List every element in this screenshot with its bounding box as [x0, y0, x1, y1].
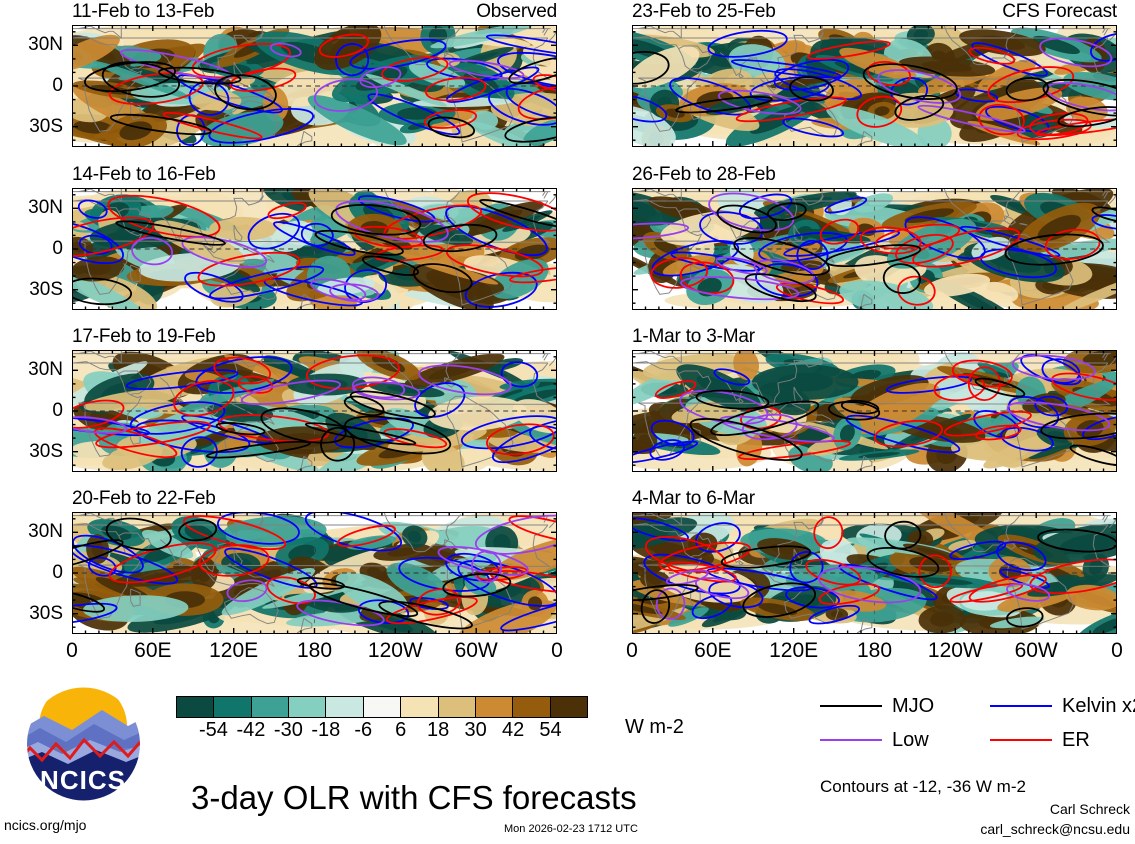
- panel-title-fcst-2: 26-Feb to 28-Feb: [632, 165, 776, 184]
- map-panel-obs-4: 20-Feb to 22-Feb30N030S: [72, 512, 557, 634]
- y-tick-obs-2-0: 0: [52, 239, 63, 258]
- colorbar-tick-7: 30: [465, 720, 487, 740]
- colorbar-tick-1: -42: [236, 720, 265, 740]
- author-name: Carl Schreck: [930, 802, 1130, 816]
- ncics-logo-graphic: NCICS: [16, 686, 151, 802]
- map-panel-obs-2: 14-Feb to 16-Feb30N030S: [72, 188, 557, 310]
- y-tick-obs-1-0: 0: [52, 76, 63, 95]
- x-tick-right-5: 60W: [1015, 640, 1058, 661]
- colorbar-cell-1: [214, 697, 251, 717]
- generation-timestamp: Mon 2026-02-23 1712 UTC: [504, 824, 638, 835]
- ncics-logo: NCICS: [16, 686, 151, 802]
- contour-legend: MJO Kelvin x2 Low ER: [820, 696, 1120, 756]
- legend-swatch-kelvin: [990, 705, 1052, 707]
- colorbar-tick-4: -6: [354, 720, 372, 740]
- y-tick-obs-3-30N: 30N: [28, 360, 63, 379]
- panel-title-obs-3: 17-Feb to 19-Feb: [72, 327, 216, 346]
- colorbar-cell-8: [476, 697, 513, 717]
- map-area-fcst-2: [632, 188, 1117, 310]
- x-tick-left-2: 120E: [209, 640, 258, 661]
- legend-label-er: ER: [1062, 730, 1090, 750]
- colorbar-cell-7: [439, 697, 476, 717]
- map-area-fcst-4: [632, 512, 1117, 634]
- column-header-right: CFS Forecast: [1002, 2, 1117, 21]
- site-url[interactable]: ncics.org/mjo: [4, 818, 86, 832]
- y-tick-obs-4-30N: 30N: [28, 522, 63, 541]
- legend-item-er: ER: [990, 730, 1090, 750]
- map-area-obs-4: [72, 512, 557, 634]
- y-tick-obs-4-0: 0: [52, 563, 63, 582]
- map-panel-obs-3: 17-Feb to 19-Feb30N030S: [72, 350, 557, 472]
- map-panel-fcst-4: 4-Mar to 6-Mar: [632, 512, 1117, 634]
- y-tick-obs-2-30S: 30S: [29, 280, 63, 299]
- map-panel-obs-1: 11-Feb to 13-FebObserved30N030S: [72, 25, 557, 147]
- colorbar-cell-4: [326, 697, 363, 717]
- svg-text:NCICS: NCICS: [40, 765, 126, 795]
- legend-swatch-low: [820, 739, 882, 741]
- x-tick-left-1: 60E: [134, 640, 171, 661]
- main-title: 3-day OLR with CFS forecasts: [191, 781, 637, 814]
- colorbar-cell-10: [551, 697, 587, 717]
- colorbar: -54-42-30-18-6618304254: [176, 696, 588, 746]
- colorbar-tick-6: 18: [427, 720, 449, 740]
- map-panel-fcst-2: 26-Feb to 28-Feb: [632, 188, 1117, 310]
- y-tick-obs-3-0: 0: [52, 401, 63, 420]
- colorbar-cell-3: [289, 697, 326, 717]
- panel-title-fcst-3: 1-Mar to 3-Mar: [632, 327, 755, 346]
- map-area-obs-1: [72, 25, 557, 147]
- panel-title-obs-4: 20-Feb to 22-Feb: [72, 489, 216, 508]
- panel-title-fcst-4: 4-Mar to 6-Mar: [632, 489, 755, 508]
- legend-item-kelvin: Kelvin x2: [990, 696, 1135, 716]
- legend-swatch-er: [990, 739, 1052, 741]
- panel-title-fcst-1: 23-Feb to 25-Feb: [632, 2, 776, 21]
- map-panel-fcst-1: 23-Feb to 25-FebCFS Forecast: [632, 25, 1117, 147]
- column-header-left: Observed: [476, 2, 557, 21]
- colorbar-cell-5: [364, 697, 401, 717]
- map-area-obs-2: [72, 188, 557, 310]
- colorbar-tick-2: -30: [274, 720, 303, 740]
- x-tick-left-0: 0: [66, 640, 78, 661]
- panel-title-obs-2: 14-Feb to 16-Feb: [72, 165, 216, 184]
- x-tick-right-0: 0: [626, 640, 638, 661]
- panel-title-obs-1: 11-Feb to 13-Feb: [72, 2, 214, 21]
- colorbar-unit-label: W m-2: [625, 717, 684, 737]
- colorbar-tick-5: 6: [395, 720, 406, 740]
- map-area-obs-3: [72, 350, 557, 472]
- y-tick-obs-4-30S: 30S: [29, 604, 63, 623]
- colorbar-tick-3: -18: [311, 720, 340, 740]
- x-tick-left-5: 60W: [455, 640, 498, 661]
- y-tick-obs-2-30N: 30N: [28, 198, 63, 217]
- colorbar-cell-0: [177, 697, 214, 717]
- legend-swatch-mjo: [820, 705, 882, 707]
- colorbar-tick-labels: -54-42-30-18-6618304254: [176, 720, 588, 744]
- map-area-fcst-3: [632, 350, 1117, 472]
- x-tick-right-2: 120E: [769, 640, 818, 661]
- colorbar-tick-8: 42: [502, 720, 524, 740]
- colorbar-cell-2: [252, 697, 289, 717]
- colorbar-tick-0: -54: [199, 720, 228, 740]
- x-tick-left-4: 120W: [368, 640, 423, 661]
- legend-item-low: Low: [820, 730, 929, 750]
- y-tick-obs-1-30S: 30S: [29, 117, 63, 136]
- colorbar-strip: [176, 696, 588, 718]
- legend-label-kelvin: Kelvin x2: [1062, 696, 1135, 716]
- map-area-fcst-1: [632, 25, 1117, 147]
- legend-item-mjo: MJO: [820, 696, 934, 716]
- x-tick-left-6: 0: [551, 640, 563, 661]
- colorbar-cell-9: [513, 697, 550, 717]
- colorbar-cell-6: [401, 697, 438, 717]
- author-email[interactable]: carl_schreck@ncsu.edu: [930, 822, 1130, 836]
- x-tick-right-3: 180: [857, 640, 892, 661]
- y-tick-obs-3-30S: 30S: [29, 442, 63, 461]
- colorbar-tick-9: 54: [539, 720, 561, 740]
- y-tick-obs-1-30N: 30N: [28, 35, 63, 54]
- legend-label-mjo: MJO: [892, 696, 934, 716]
- contour-levels-note: Contours at -12, -36 W m-2: [820, 778, 1026, 795]
- x-tick-right-4: 120W: [928, 640, 983, 661]
- x-tick-right-6: 0: [1111, 640, 1123, 661]
- x-tick-left-3: 180: [297, 640, 332, 661]
- map-panel-fcst-3: 1-Mar to 3-Mar: [632, 350, 1117, 472]
- x-tick-right-1: 60E: [694, 640, 731, 661]
- legend-label-low: Low: [892, 730, 929, 750]
- figure-canvas: 11-Feb to 13-FebObserved30N030S14-Feb to…: [0, 0, 1135, 844]
